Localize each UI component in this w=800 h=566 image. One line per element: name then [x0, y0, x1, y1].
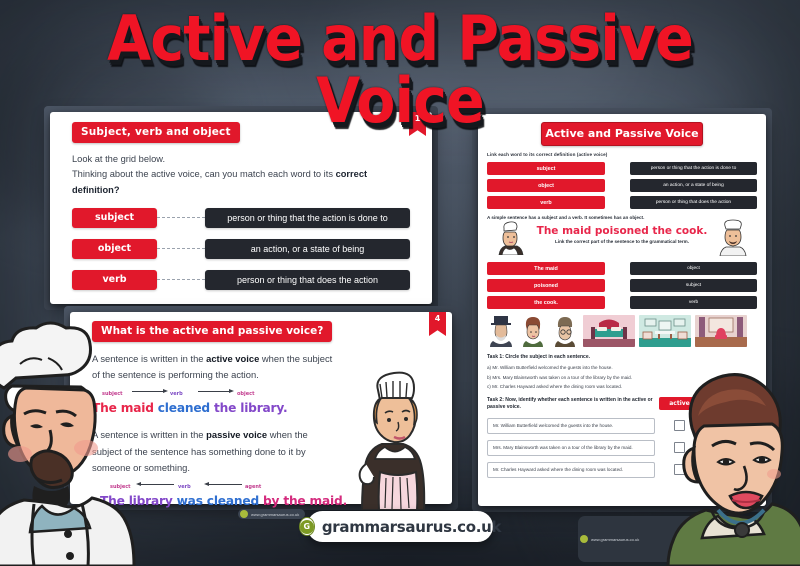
- grammarsaurus-logo-icon: [240, 510, 248, 518]
- worksheet-term[interactable]: verb: [630, 296, 757, 309]
- match-word[interactable]: subject: [72, 208, 157, 228]
- match-connector[interactable]: [157, 279, 205, 280]
- worksheet-part-row[interactable]: poisoned subject: [487, 279, 757, 292]
- logo-letter: G: [300, 520, 314, 534]
- annot-object-label: object: [237, 391, 254, 397]
- match-word[interactable]: object: [72, 239, 157, 259]
- task2-sentence: Mr. William Butterfield welcomed the gue…: [487, 418, 655, 434]
- match-definition[interactable]: person or thing that does the action: [205, 270, 410, 290]
- match-definition[interactable]: person or thing that the action is done …: [205, 208, 410, 228]
- annot-agent-label: agent: [245, 484, 261, 490]
- card-4-badge: 4: [429, 312, 446, 336]
- maid-illustration: [352, 360, 438, 510]
- woman-green-dress-portrait-icon: [519, 315, 547, 347]
- maid-icon: [495, 219, 525, 255]
- worksheet-part-grid: The maid object poisoned subject the coo…: [487, 262, 757, 309]
- passive-verb: was cleaned: [177, 494, 259, 508]
- card-subject-verb-object[interactable]: 1 Subject, verb and object Look at the g…: [50, 112, 432, 304]
- card-1-intro-line-1: Look at the grid below.: [72, 152, 410, 167]
- brand-name: grammarsaurus.co.uk: [322, 518, 501, 536]
- worksheet-definition[interactable]: person or thing that does the action: [630, 196, 757, 209]
- match-word[interactable]: verb: [72, 270, 157, 290]
- card-1-intro-line-2: Thinking about the active voice, can you…: [72, 167, 410, 198]
- worksheet-word[interactable]: subject: [487, 162, 605, 175]
- worksheet-definition[interactable]: person or thing that the action is done …: [630, 162, 757, 175]
- active-para-bold: active voice: [206, 353, 259, 364]
- match-row[interactable]: object an action, or a state of being: [72, 239, 410, 259]
- grammarsaurus-logo-icon: G: [299, 517, 315, 536]
- poster-stage: Active and Passive Voice 1 Subject, verb…: [0, 0, 800, 566]
- worksheet-link-row[interactable]: verb person or thing that does the actio…: [487, 196, 757, 209]
- worksheet-term[interactable]: object: [630, 262, 757, 275]
- brand-footer[interactable]: G grammarsaurus.co.uk: [307, 511, 493, 542]
- worksheet-part[interactable]: poisoned: [487, 279, 605, 292]
- worksheet-image-row: [487, 315, 757, 347]
- passive-agent: by the maid.: [263, 494, 347, 508]
- worksheet-part[interactable]: The maid: [487, 262, 605, 275]
- arrow-right-icon: [198, 391, 230, 392]
- card-1-body: Look at the grid below. Thinking about t…: [50, 143, 432, 290]
- man-glasses-portrait-icon: [551, 315, 579, 347]
- page-title-text: Active and Passive Voice: [32, 8, 768, 132]
- annot-verb-label: verb: [178, 484, 191, 490]
- worksheet-term[interactable]: subject: [630, 279, 757, 292]
- worksheet-link-grid: subject person or thing that the action …: [487, 162, 757, 209]
- grammarsaurus-logo-icon: [580, 535, 588, 543]
- bedroom-scene-icon: [583, 315, 635, 347]
- arrow-left-icon: [208, 484, 242, 485]
- worksheet-word[interactable]: verb: [487, 196, 605, 209]
- worksheet-link-row[interactable]: object an action, or a state of being: [487, 179, 757, 192]
- slide-footer-text: www.grammarsaurus.co.uk: [251, 512, 299, 517]
- card-1-intro-plain: Thinking about the active voice, can you…: [72, 169, 336, 179]
- arrow-left-icon: [140, 484, 174, 485]
- active-object: the library.: [214, 401, 287, 415]
- worksheet-task2-heading: Task 2: Now, identify whether each sente…: [487, 397, 655, 412]
- worksheet-definition[interactable]: an action, or a state of being: [630, 179, 757, 192]
- match-connector[interactable]: [157, 248, 205, 249]
- task2-sentence: Mr. Charles Hayward asked where the dini…: [487, 462, 655, 478]
- worksheet-link-instruction: Link each word to its correct definition…: [487, 152, 757, 157]
- match-row[interactable]: subject person or thing that the action …: [72, 208, 410, 228]
- worksheet-part-row[interactable]: The maid object: [487, 262, 757, 275]
- chef-character: [0, 318, 138, 566]
- active-verb: cleaned: [158, 401, 210, 415]
- worksheet-part[interactable]: the cook.: [487, 296, 605, 309]
- match-row[interactable]: verb person or thing that does the actio…: [72, 270, 410, 290]
- worksheet-task1-heading: Task 1: Circle the subject in each sente…: [487, 354, 757, 360]
- chef-icon: [717, 218, 749, 256]
- card-1-match-grid: subject person or thing that the action …: [72, 208, 410, 290]
- worksheet-word[interactable]: object: [487, 179, 605, 192]
- library-scene-icon: [695, 315, 747, 347]
- annot-verb-label: verb: [170, 391, 183, 397]
- man-top-hat-portrait-icon: [487, 315, 515, 347]
- passive-para-bold: passive voice: [206, 429, 267, 440]
- match-connector[interactable]: [157, 217, 205, 218]
- slide-footer-badge: www.grammarsaurus.co.uk: [238, 509, 305, 519]
- worksheet-example-block: A simple sentence has a subject and a ve…: [487, 215, 757, 257]
- match-definition[interactable]: an action, or a state of being: [205, 239, 410, 259]
- woman-green-dress-character: [646, 370, 800, 566]
- worksheet-link-row[interactable]: subject person or thing that the action …: [487, 162, 757, 175]
- task2-sentence: Mrs. Mary Blainsworth was taken on a tou…: [487, 440, 655, 456]
- worksheet-part-row[interactable]: the cook. verb: [487, 296, 757, 309]
- page-title: Active and Passive Voice: [0, 8, 800, 132]
- dining-room-scene-icon: [639, 315, 691, 347]
- worksheet-footer-text: www.grammarsaurus.co.uk: [591, 537, 639, 542]
